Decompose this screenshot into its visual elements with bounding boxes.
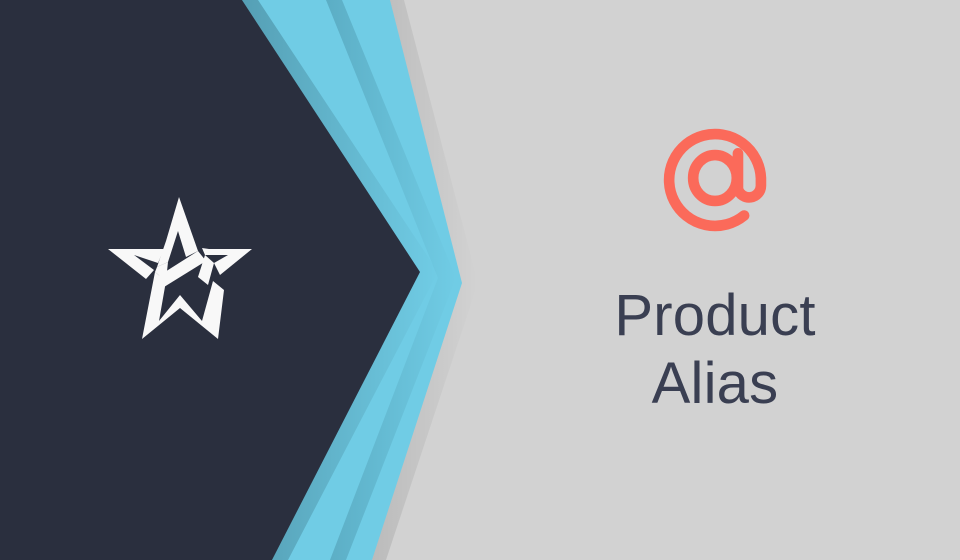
star-logo (106, 193, 254, 341)
at-sign-glyph (659, 122, 771, 234)
slide-canvas: Product Alias (0, 0, 960, 560)
right-content-panel: Product Alias (470, 0, 960, 560)
title-line-1: Product (614, 282, 815, 350)
title-line-2: Alias (614, 350, 815, 418)
page-title: Product Alias (614, 282, 815, 419)
star-outline-icon (106, 193, 254, 341)
at-sign-icon (655, 118, 775, 238)
